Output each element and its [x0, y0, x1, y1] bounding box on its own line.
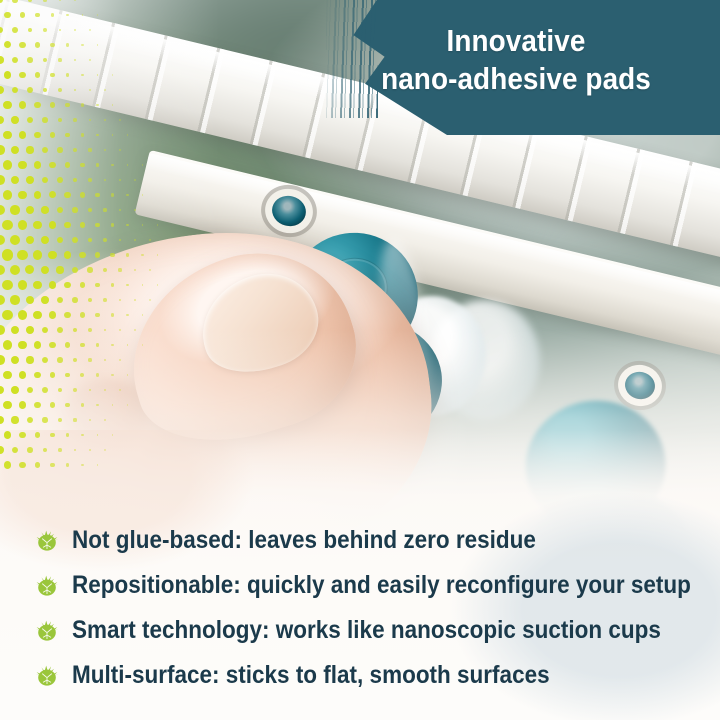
leaf-icon [30, 526, 64, 556]
leaf-icon [30, 616, 64, 646]
headline-banner: Innovative nano-adhesive pads [330, 0, 720, 135]
feature-bullet-text: Repositionable: quickly and easily recon… [72, 573, 691, 598]
banner-title-line2: nano-adhesive pads [349, 60, 684, 98]
banner-title: Innovative nano-adhesive pads [349, 22, 684, 98]
feature-bullet-item: Smart technology: works like nanoscopic … [30, 608, 710, 653]
product-feature-graphic: Innovative nano-adhesive pads Not glue-b… [0, 0, 720, 720]
feature-bullet-item: Not glue-based: leaves behind zero resid… [30, 518, 710, 563]
feature-bullet-list: Not glue-based: leaves behind zero resid… [30, 518, 710, 698]
feature-bullet-text: Multi-surface: sticks to flat, smooth su… [72, 663, 550, 688]
leaf-icon [30, 661, 64, 691]
feature-bullet-item: Multi-surface: sticks to flat, smooth su… [30, 653, 710, 698]
feature-bullet-text: Smart technology: works like nanoscopic … [72, 618, 661, 643]
feature-bullet-item: Repositionable: quickly and easily recon… [30, 563, 710, 608]
banner-title-line1: Innovative [447, 23, 586, 58]
halftone-dot-gradient [0, 0, 180, 470]
feature-bullet-text: Not glue-based: leaves behind zero resid… [72, 528, 536, 553]
leaf-icon [30, 571, 64, 601]
